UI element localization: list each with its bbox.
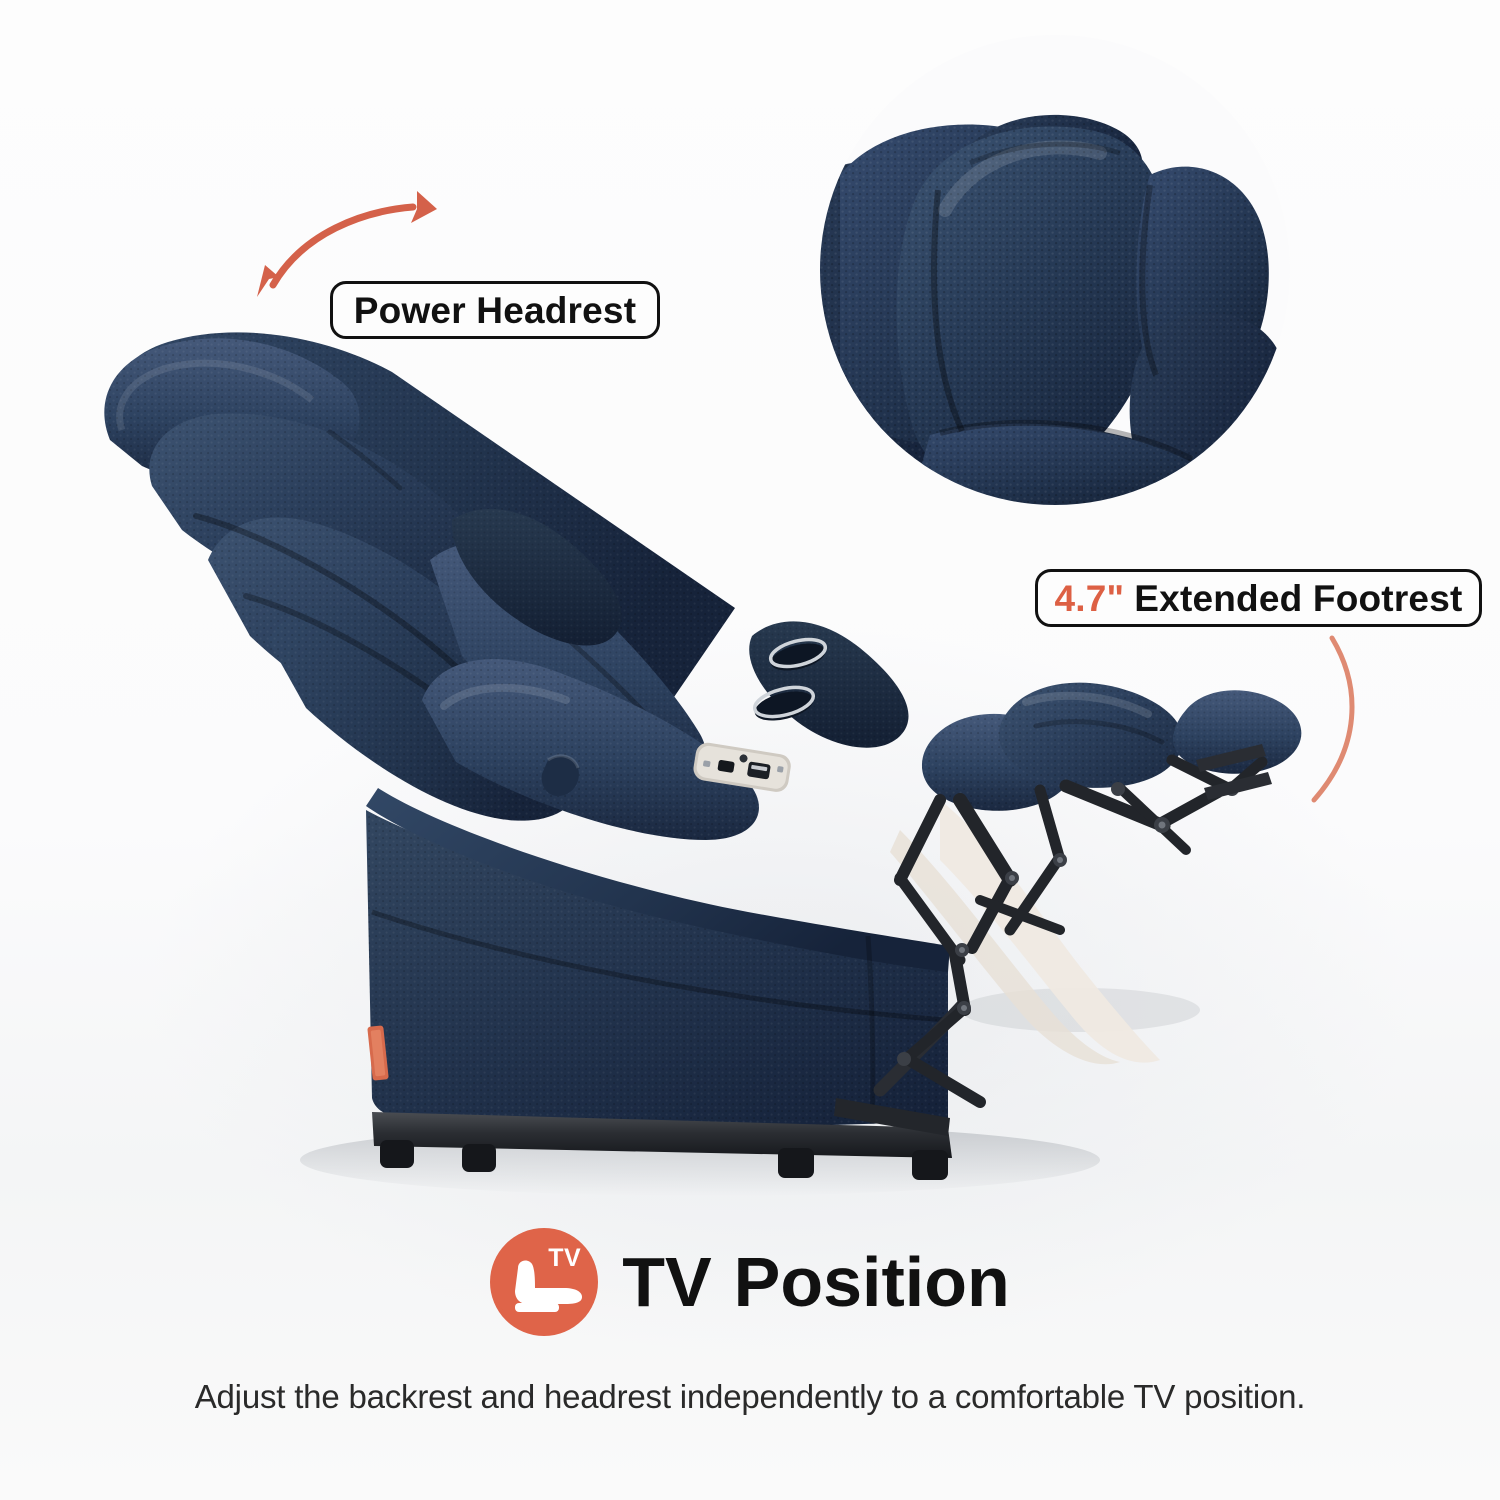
page-title-secondary: Position [734, 1243, 1010, 1321]
page-title-primary: TV [622, 1243, 711, 1321]
power-headrest-callout: Power Headrest [330, 281, 660, 339]
power-headrest-label: Power Headrest [354, 292, 636, 329]
infographic-canvas: Power Headrest 4.7" Extended Footrest TV… [0, 0, 1500, 1500]
title-row: TV TVPosition [490, 1228, 1010, 1336]
tv-badge-text: TV [548, 1246, 581, 1271]
headrest-closeup-inset [820, 35, 1290, 505]
page-title: TVPosition [622, 1247, 1010, 1317]
footer-subtitle: Adjust the backrest and headrest indepen… [195, 1378, 1306, 1416]
footer-section: TV TVPosition Adjust the backrest and he… [0, 1228, 1500, 1416]
extended-footrest-label: Extended Footrest [1134, 580, 1462, 617]
extended-footrest-callout: 4.7" Extended Footrest [1035, 569, 1482, 627]
tv-position-icon: TV [490, 1228, 598, 1336]
footrest-measurement: 4.7" [1055, 580, 1125, 617]
